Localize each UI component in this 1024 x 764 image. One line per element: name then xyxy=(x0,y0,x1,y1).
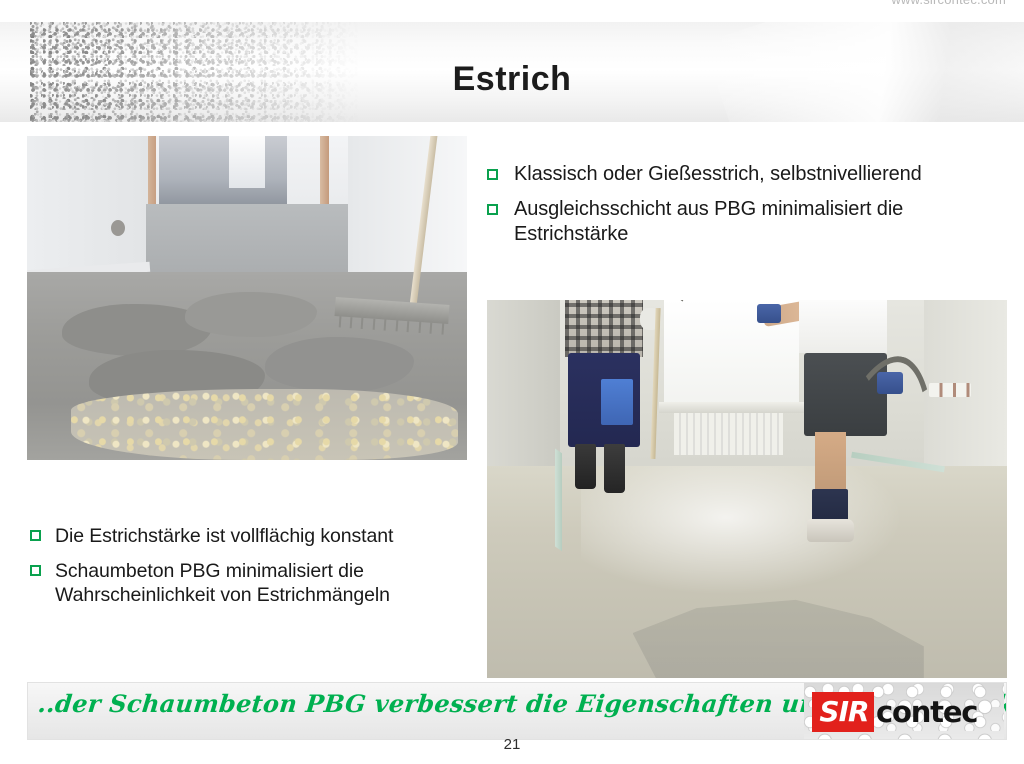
list-item: Klassisch oder Gießesstrich, selbstnivel… xyxy=(487,162,1007,187)
square-bullet-icon xyxy=(30,565,41,576)
slide-footer: ..der Schaumbeton PBG verbessert die Eig… xyxy=(27,682,1007,740)
photo-worker-right-shirt xyxy=(799,300,887,353)
logo-contec-word: contec xyxy=(876,693,977,731)
square-bullet-icon xyxy=(487,169,498,180)
photo-screed-lump xyxy=(185,292,317,337)
photo-screed-lump xyxy=(265,337,415,392)
photo-doorway xyxy=(159,136,287,207)
square-bullet-icon xyxy=(30,530,41,541)
photo-floor-back xyxy=(146,204,348,282)
photo-wall-hole xyxy=(111,220,125,236)
photo-worker-left-boot xyxy=(575,444,596,489)
photo-door-light xyxy=(229,136,264,188)
square-bullet-icon xyxy=(487,204,498,215)
list-item-label: Schaumbeton PBG minimalisiert die Wahrsc… xyxy=(55,559,480,608)
photo-wall-right xyxy=(348,136,467,288)
photo-wall-sockets xyxy=(929,383,971,397)
photo-worker-left-boot xyxy=(604,444,625,493)
bullet-list-left: Die Estrichstärke ist vollflächig konsta… xyxy=(30,524,480,618)
list-item-label: Klassisch oder Gießesstrich, selbstnivel… xyxy=(514,162,922,187)
slide: www.sircontec.com Estrich Klassis xyxy=(0,0,1024,764)
list-item-label: Ausgleichsschicht aus PBG minimalisiert … xyxy=(514,197,1007,247)
list-item: Ausgleichsschicht aus PBG minimalisiert … xyxy=(487,197,1007,247)
photo-worker-left-jacket xyxy=(565,300,643,357)
list-item: Schaumbeton PBG minimalisiert die Wahrsc… xyxy=(30,559,480,608)
list-item-label: Die Estrichstärke ist vollflächig konsta… xyxy=(55,524,393,549)
page-title: Estrich xyxy=(0,60,1024,99)
list-item: Die Estrichstärke ist vollflächig konsta… xyxy=(30,524,480,549)
sircontec-logo: SIR contec xyxy=(804,683,1004,739)
page-number: 21 xyxy=(0,736,1024,753)
bullet-list-right: Klassisch oder Gießesstrich, selbstnivel… xyxy=(487,162,1007,258)
site-url: www.sircontec.com xyxy=(891,0,1006,7)
photo-liquid-screed-pouring xyxy=(487,300,1007,678)
photo-gravel-aggregate xyxy=(71,389,458,460)
logo-sir-mark: SIR xyxy=(815,693,873,731)
photo-worker-left-pocket xyxy=(601,379,632,424)
photo-screed-spreading xyxy=(27,136,467,460)
photo-edge-strip-left xyxy=(555,449,562,552)
